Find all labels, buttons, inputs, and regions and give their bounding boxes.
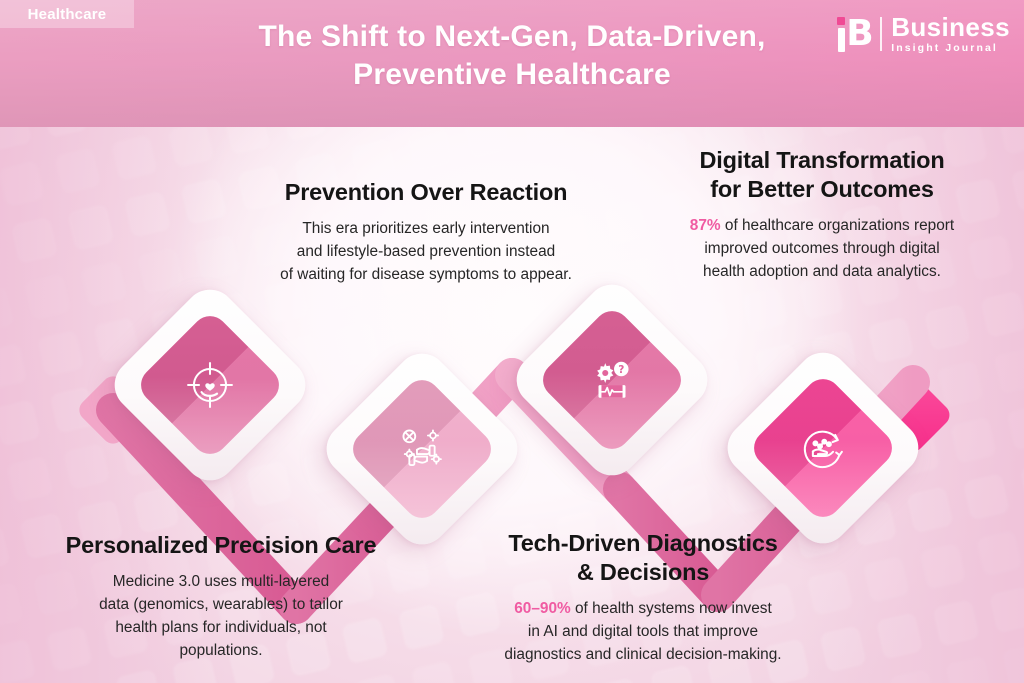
block-heading: Digital Transformation for Better Outcom…: [620, 146, 1024, 204]
logo-stem-icon: [838, 28, 845, 52]
infographic-canvas: ? Prevention: [0, 0, 1024, 683]
page-title: The Shift to Next-Gen, Data-Driven, Prev…: [132, 18, 892, 94]
logo-divider: [880, 17, 882, 51]
body-line: in AI and digital tools that improve: [528, 623, 758, 640]
body-line: of healthcare organizations report: [721, 217, 955, 234]
body-line: health adoption and data analytics.: [703, 263, 941, 280]
body-line: This era prioritizes early intervention: [302, 220, 549, 237]
logo-tagline: Insight Journal: [891, 43, 1010, 54]
block-heading: Tech-Driven Diagnostics & Decisions: [434, 529, 852, 587]
block-digital-transformation: Digital Transformation for Better Outcom…: [620, 146, 1024, 283]
block-heading: Personalized Precision Care: [8, 531, 434, 560]
title-line: Preventive Healthcare: [132, 56, 892, 94]
block-prevention-over-reaction: Prevention Over Reaction This era priori…: [196, 178, 656, 286]
node-digital-transformation[interactable]: [748, 373, 898, 523]
body-line: populations.: [179, 642, 262, 659]
body-line: improved outcomes through digital: [704, 240, 939, 257]
heading-line: Digital Transformation: [700, 147, 945, 173]
node-prevention[interactable]: [347, 374, 497, 524]
block-personalized-precision-care: Personalized Precision Care Medicine 3.0…: [8, 531, 434, 662]
block-body: 87% of healthcare organizations report i…: [620, 214, 1024, 283]
block-body: 60–90% of health systems now invest in A…: [434, 597, 852, 666]
body-line: of waiting for disease symptoms to appea…: [280, 266, 572, 283]
body-line: of health systems now invest: [571, 600, 772, 617]
title-line: The Shift to Next-Gen, Data-Driven,: [132, 18, 892, 56]
stat-highlight: 60–90%: [514, 600, 570, 617]
logo-dot-icon: [837, 17, 845, 25]
stat-highlight: 87%: [690, 217, 721, 234]
node-precision-care[interactable]: [135, 310, 285, 460]
block-tech-driven-diagnostics: Tech-Driven Diagnostics & Decisions 60–9…: [434, 529, 852, 666]
block-body: This era prioritizes early intervention …: [196, 217, 656, 286]
block-heading: Prevention Over Reaction: [196, 178, 656, 207]
logo-b-mark-icon: B: [837, 16, 871, 52]
node-diagnostics[interactable]: ?: [537, 305, 687, 455]
block-body: Medicine 3.0 uses multi-layered data (ge…: [8, 570, 434, 662]
body-line: Medicine 3.0 uses multi-layered: [113, 573, 329, 590]
body-line: diagnostics and clinical decision-making…: [504, 646, 781, 663]
logo-name: Business: [891, 14, 1010, 40]
logo-letter: B: [846, 17, 871, 52]
heading-line: Tech-Driven Diagnostics: [508, 530, 777, 556]
body-line: and lifestyle-based prevention instead: [297, 243, 555, 260]
heading-line: & Decisions: [577, 559, 709, 585]
brand-logo[interactable]: B Business Insight Journal: [837, 13, 1010, 55]
body-line: data (genomics, wearables) to tailor: [99, 596, 343, 613]
body-line: health plans for individuals, not: [115, 619, 326, 636]
category-tag[interactable]: Healthcare: [0, 0, 134, 28]
logo-wordmark: Business Insight Journal: [891, 14, 1010, 54]
heading-line: for Better Outcomes: [710, 176, 933, 202]
header-band: Healthcare The Shift to Next-Gen, Data-D…: [0, 0, 1024, 127]
